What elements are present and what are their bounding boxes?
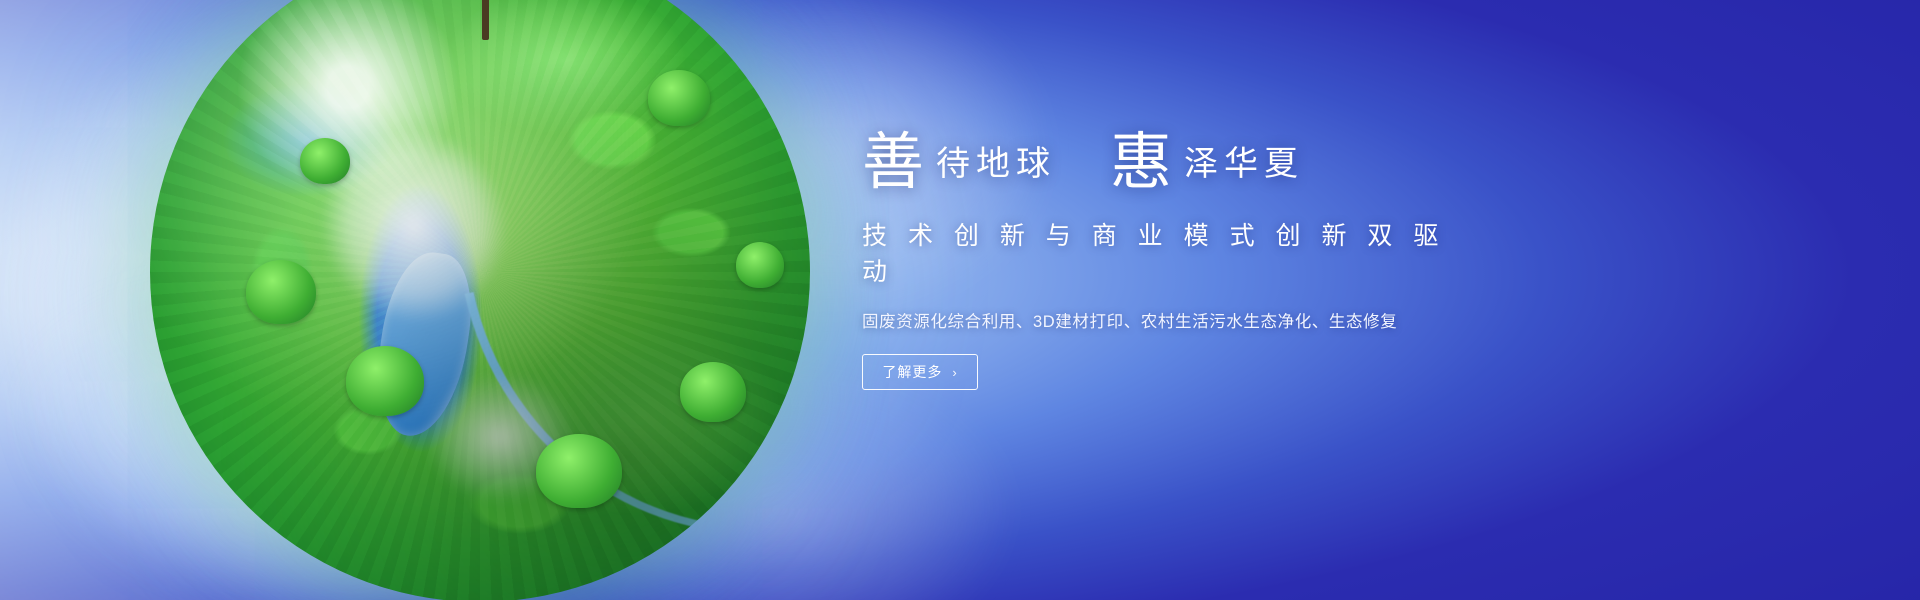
page-title: 善 待地球 惠 泽华夏 (862, 128, 1482, 190)
headline-char-2: 惠 (1110, 132, 1174, 194)
hero-subtitle: 技 术 创 新 与 商 业 模 式 创 新 双 驱 动 (862, 216, 1482, 288)
chevron-right-icon: › (952, 365, 957, 380)
headline-char-1: 善 (862, 132, 926, 194)
headline-rest-1: 待地球 (936, 148, 1056, 182)
learn-more-button[interactable]: 了解更多 › (862, 354, 978, 390)
hero-banner: 善 待地球 惠 泽华夏 技 术 创 新 与 商 业 模 式 创 新 双 驱 动 … (0, 0, 1920, 600)
hero-description: 固废资源化综合利用、3D建材打印、农村生活污水生态净化、生态修复 (862, 308, 1482, 332)
hero-content: 善 待地球 惠 泽华夏 技 术 创 新 与 商 业 模 式 创 新 双 驱 动 … (862, 128, 1482, 390)
earth-planet-illustration (150, 0, 810, 600)
learn-more-label: 了解更多 (882, 362, 942, 382)
headline-rest-2: 泽华夏 (1184, 148, 1304, 182)
